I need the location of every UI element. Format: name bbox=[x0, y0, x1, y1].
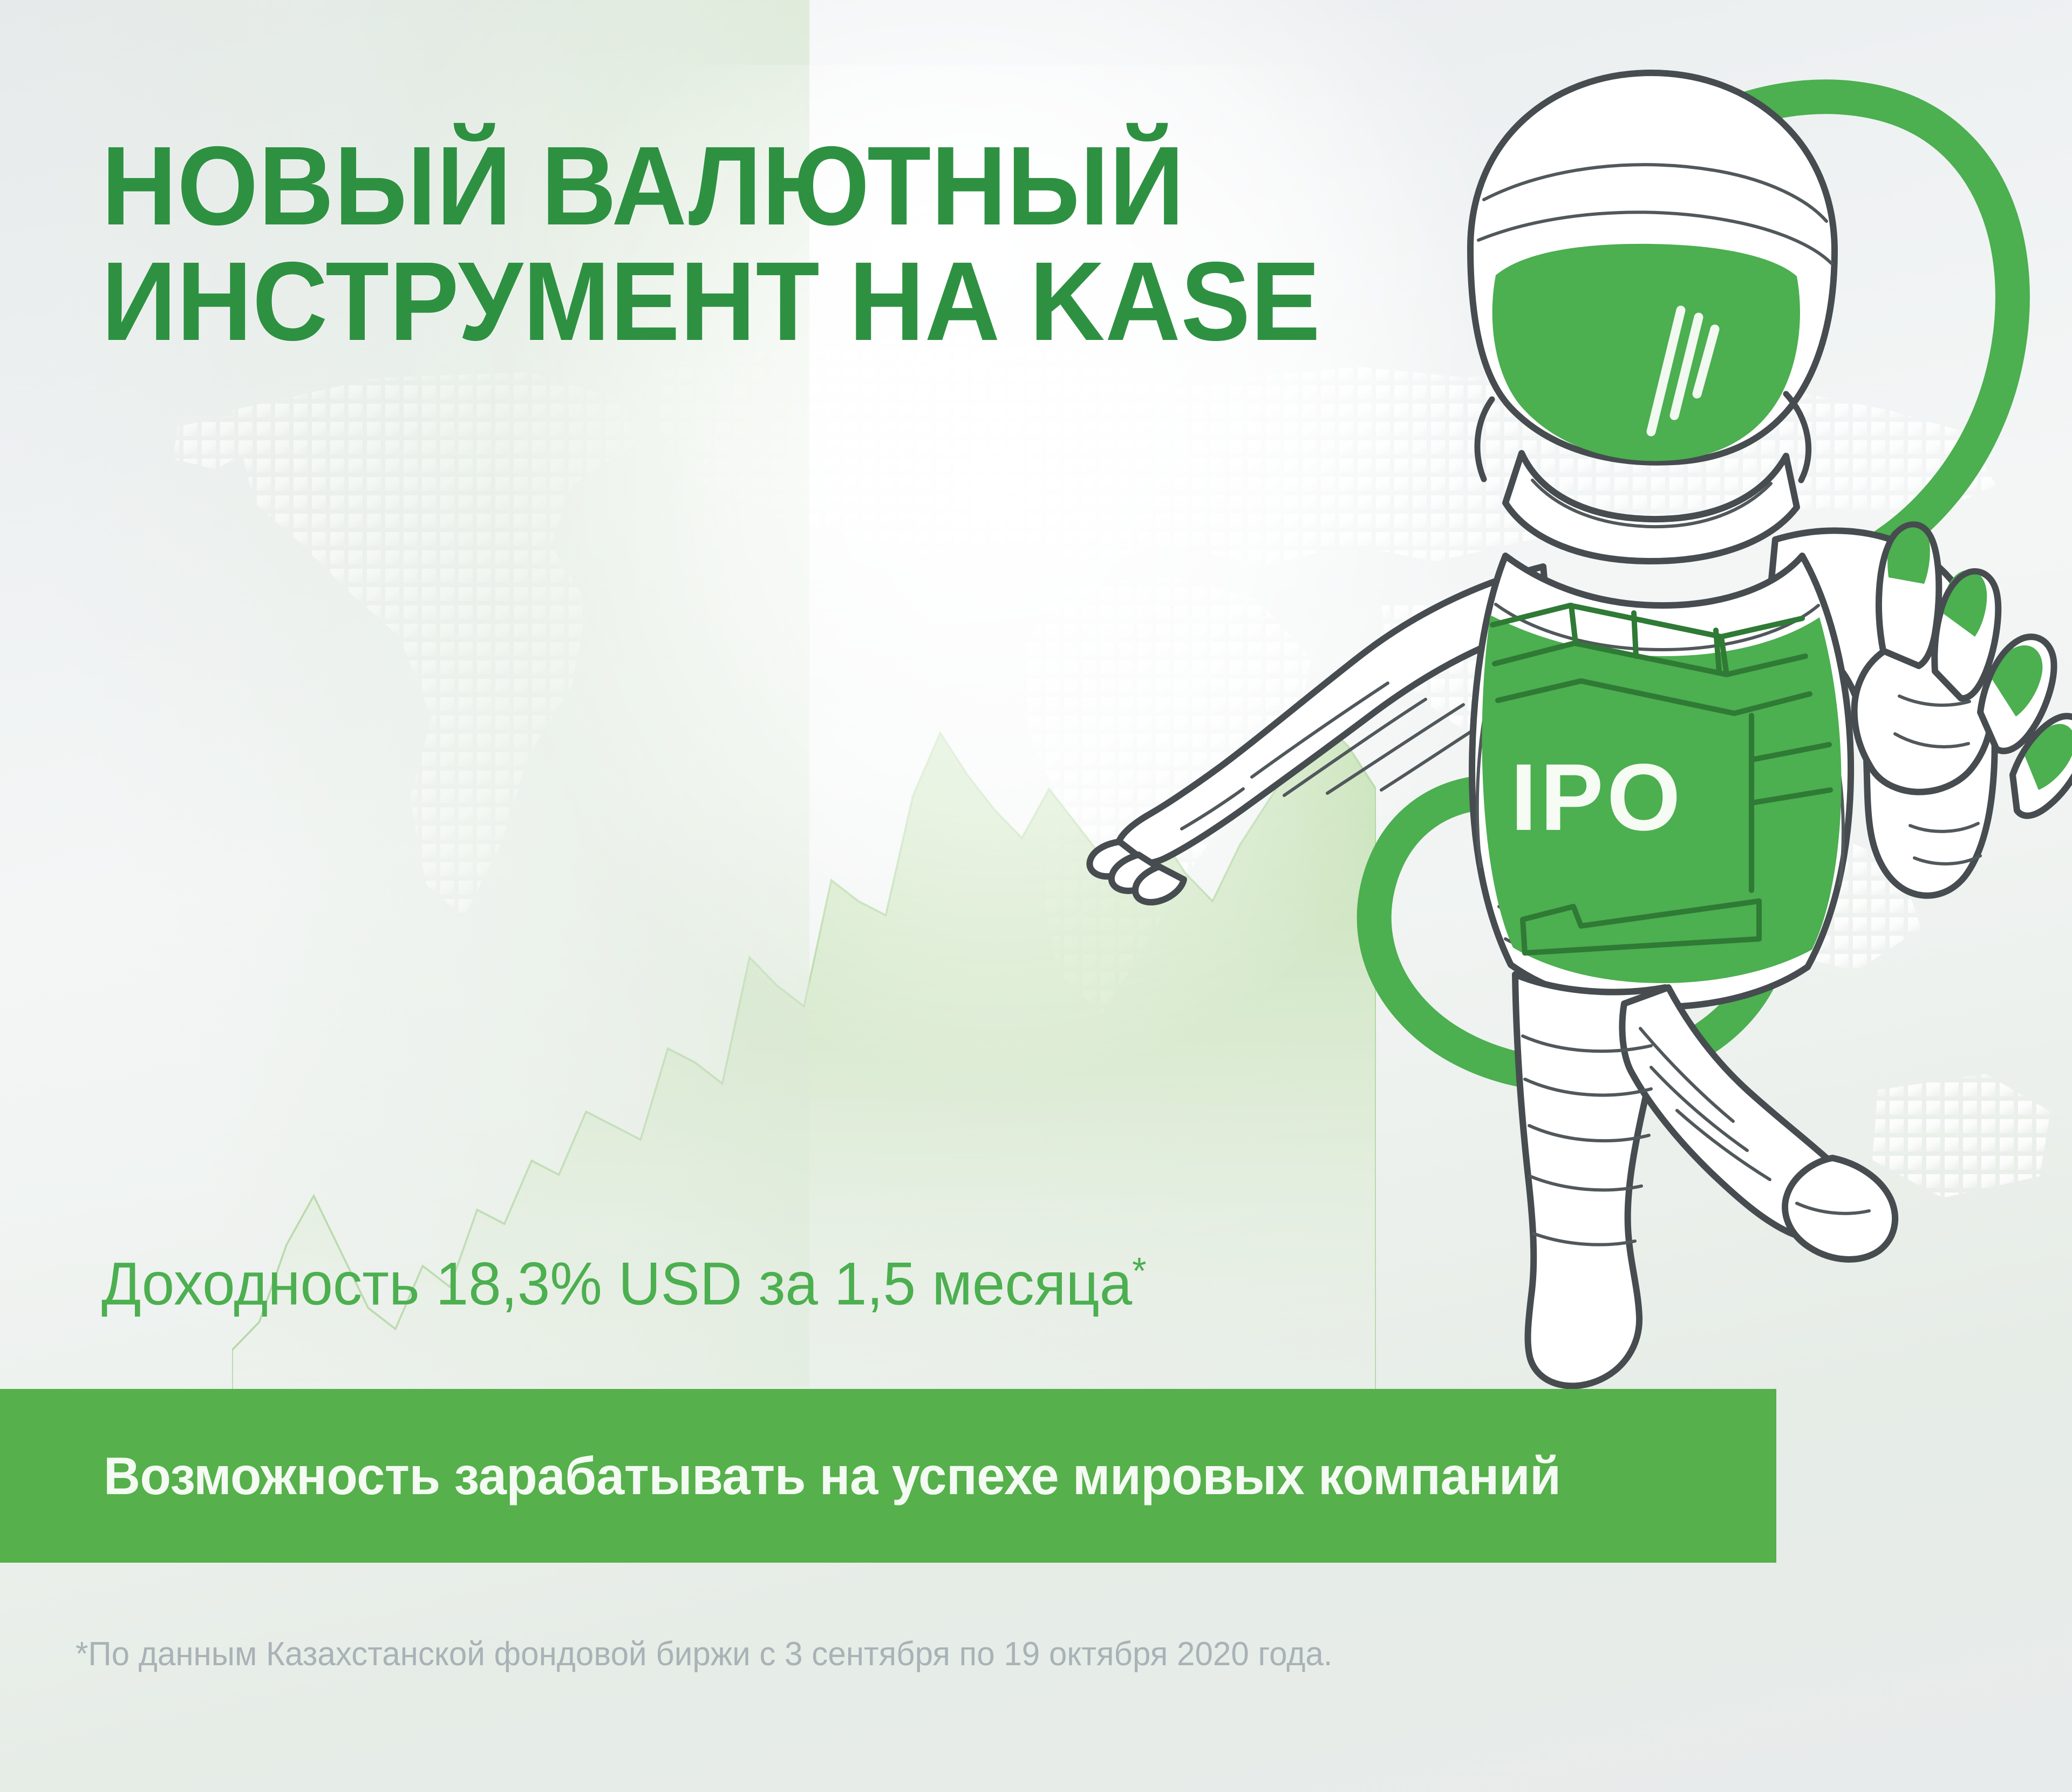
headline-line-1: НОВЫЙ ВАЛЮТНЫЙ bbox=[101, 128, 1320, 244]
chest-label: IPO bbox=[1510, 745, 1683, 850]
footnote: *По данным Казахстанской фондовой биржи … bbox=[76, 1635, 1332, 1673]
banner-label: Возможность зарабатывать на успехе миров… bbox=[104, 1446, 1561, 1507]
poster-root: .ink { fill:none; stroke:#464c4f; stroke… bbox=[0, 0, 2072, 1792]
return-statement-text: Доходность 18,3% USD за 1,5 месяца bbox=[101, 1250, 1132, 1317]
money-pack-icon: IPO bbox=[1482, 605, 1842, 983]
helmet-icon bbox=[1470, 73, 1835, 480]
return-statement: Доходность 18,3% USD за 1,5 месяца* bbox=[101, 1252, 1147, 1314]
page-title: НОВЫЙ ВАЛЮТНЫЙ ИНСТРУМЕНТ НА KASE bbox=[101, 128, 1320, 359]
asterisk-marker: * bbox=[1132, 1250, 1146, 1292]
headline-line-2: ИНСТРУМЕНТ НА KASE bbox=[101, 244, 1320, 359]
green-banner: Возможность зарабатывать на успехе миров… bbox=[0, 1389, 1776, 1563]
